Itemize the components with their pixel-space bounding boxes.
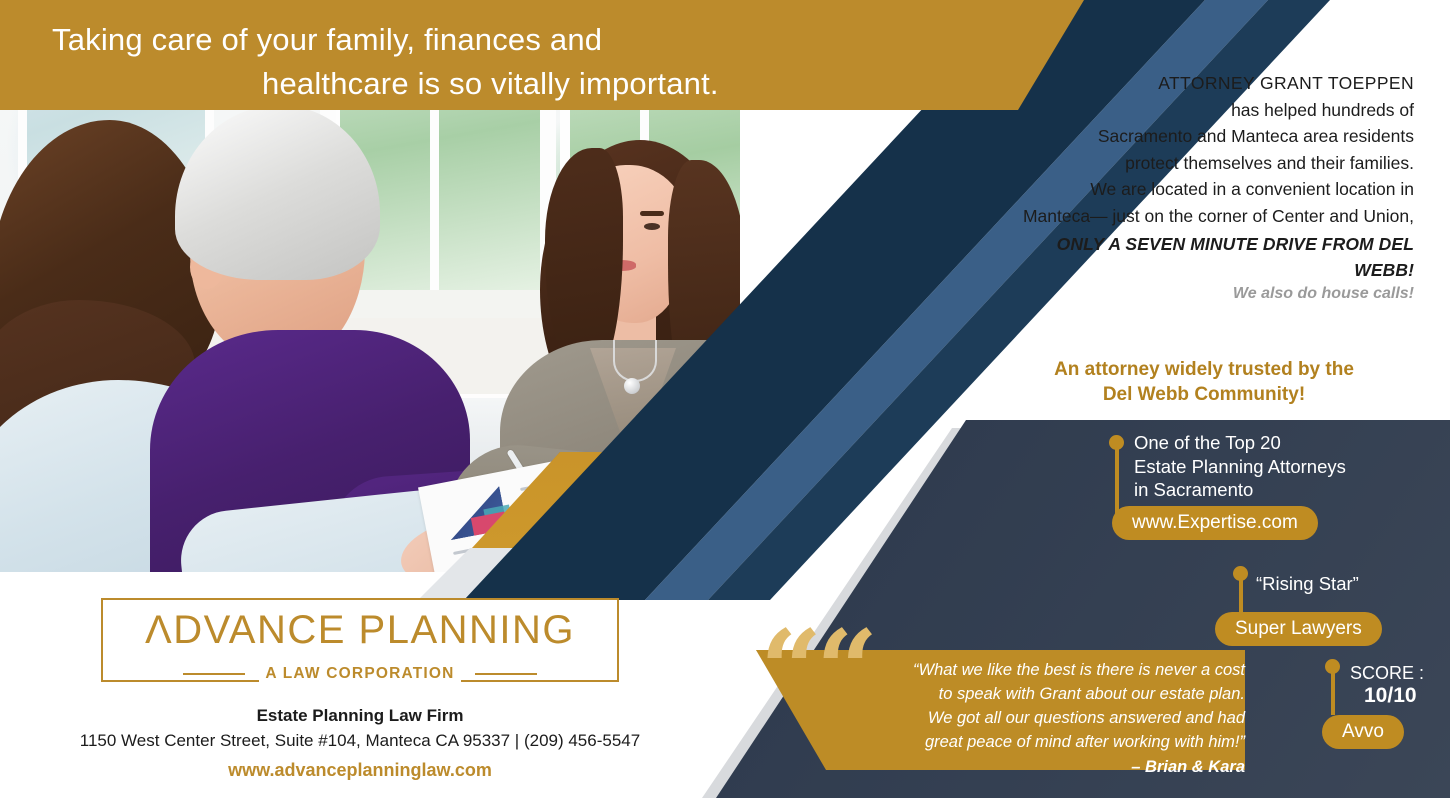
headline: Taking care of your family, finances and… <box>0 18 800 106</box>
intro-line-4: protect themselves and their families. <box>1014 150 1414 177</box>
badge-stem-icon <box>1331 667 1335 715</box>
badge-avvo: SCORE : 10/10 <box>1350 663 1424 708</box>
intro-emphasis: ONLY A SEVEN MINUTE DRIVE FROM DEL WEBB! <box>1014 231 1414 284</box>
house-calls-note: We also do house calls! <box>1014 285 1414 303</box>
badge-super-lawyers: “Rising Star” <box>1256 572 1359 596</box>
intro-line-3: Sacramento and Manteca area residents <box>1014 123 1414 150</box>
eyebrow <box>640 211 664 216</box>
necklace <box>613 340 657 382</box>
badge-label-line-1: One of the Top 20 <box>1134 431 1346 455</box>
intro-line-2: has helped hundreds of <box>1014 97 1414 124</box>
headline-line-1: Taking care of your family, finances and <box>0 18 800 62</box>
testimonial-line-1: “What we like the best is there is never… <box>800 659 1245 683</box>
necklace-pendant <box>624 378 640 394</box>
badge-expertise: One of the Top 20 Estate Planning Attorn… <box>1134 431 1346 502</box>
eye <box>644 223 660 230</box>
badge-label-line-2: Estate Planning Attorneys <box>1134 455 1346 479</box>
testimonial-text: “What we like the best is there is never… <box>800 659 1245 780</box>
badge-pill-avvo[interactable]: Avvo <box>1322 715 1404 749</box>
testimonial-line-2: to speak with Grant about our estate pla… <box>800 683 1245 707</box>
headline-line-2: healthcare is so vitally important. <box>0 62 800 106</box>
intro-line-6: Manteca— just on the corner of Center an… <box>1014 203 1414 230</box>
badge-pill-expertise[interactable]: www.Expertise.com <box>1112 506 1318 540</box>
trusted-line-1: An attorney widely trusted by the <box>994 358 1414 383</box>
testimonial-line-4: great peace of mind after working with h… <box>800 731 1245 755</box>
attorney-name: ATTORNEY GRANT TOEPPEN <box>1014 70 1414 97</box>
trusted-heading: An attorney widely trusted by the Del We… <box>994 358 1414 407</box>
testimonial-attribution: – Brian & Kara <box>800 756 1245 780</box>
logo-rule-right <box>475 673 537 675</box>
footer-address-phone: 1150 West Center Street, Suite #104, Man… <box>0 731 720 751</box>
badge-stem-icon <box>1115 441 1119 515</box>
badge-pill-super-lawyers[interactable]: Super Lawyers <box>1215 612 1382 646</box>
trusted-line-2: Del Webb Community! <box>994 383 1414 408</box>
footer-tagline: Estate Planning Law Firm <box>0 706 720 726</box>
badge-label-rising-star: “Rising Star” <box>1256 572 1359 596</box>
logo-tagline: A LAW CORPORATION <box>259 665 460 683</box>
intro-paragraph: ATTORNEY GRANT TOEPPEN has helped hundre… <box>1014 70 1414 284</box>
badge-score-label: SCORE : <box>1350 663 1424 684</box>
badge-score-value: 10/10 <box>1350 684 1424 708</box>
testimonial-line-3: We got all our questions answered and ha… <box>800 707 1245 731</box>
advertisement-root: Taking care of your family, finances and… <box>0 0 1450 798</box>
logo-rule-left <box>183 673 245 675</box>
logo-wordmark: ΛDVANCE PLANNING <box>101 608 619 653</box>
logo-tagline-wrap: A LAW CORPORATION <box>101 665 619 683</box>
badge-label-line-3: in Sacramento <box>1134 478 1346 502</box>
footer-website[interactable]: www.advanceplanninglaw.com <box>0 760 720 781</box>
intro-line-5: We are located in a convenient location … <box>1014 176 1414 203</box>
